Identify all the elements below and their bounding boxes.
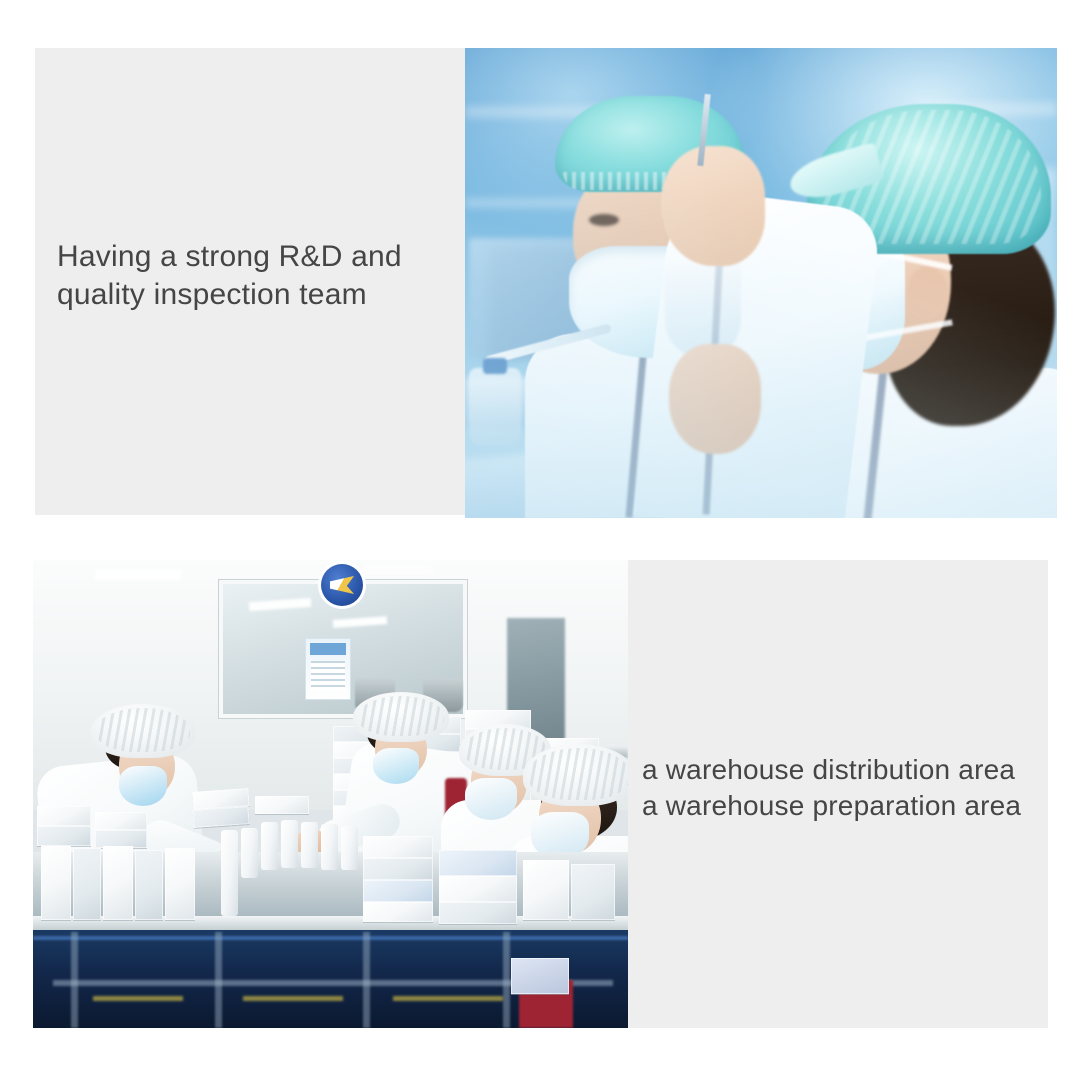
ceiling-light — [95, 570, 181, 580]
tube — [241, 828, 258, 878]
carton — [363, 858, 433, 880]
hand-upper — [661, 146, 765, 266]
carton — [37, 826, 91, 846]
carton-upright — [41, 846, 71, 920]
glass-flask — [665, 254, 741, 358]
tube — [321, 824, 338, 870]
section-rnd-quality: Having a strong R&D and quality inspecti… — [0, 0, 1080, 530]
carton — [255, 796, 309, 814]
hair-cap — [353, 692, 449, 742]
carton — [439, 850, 517, 876]
floor-marking — [93, 996, 183, 1001]
tube — [341, 826, 358, 870]
window-light-reflection — [249, 598, 311, 611]
caption-warehouse: a warehouse distribution area a warehous… — [642, 752, 1062, 825]
carton-upright — [523, 860, 569, 920]
carton-upright — [73, 848, 101, 920]
hair-cap — [91, 704, 195, 758]
carton — [439, 902, 517, 924]
carton — [511, 958, 569, 994]
carton — [363, 836, 433, 858]
page-root: Having a strong R&D and quality inspecti… — [0, 0, 1080, 1080]
hair-cap — [523, 744, 628, 806]
carton — [363, 902, 433, 922]
ceiling-light — [363, 566, 433, 575]
carton — [363, 880, 433, 902]
face-mask — [373, 748, 419, 784]
carton — [37, 806, 91, 826]
ear — [907, 266, 947, 320]
wall-sign-icon — [321, 564, 363, 606]
carton — [95, 812, 147, 830]
carton-upright — [103, 846, 133, 920]
tube — [281, 820, 298, 868]
tube — [301, 822, 318, 868]
carton-upright — [135, 850, 163, 920]
hand-lower — [669, 344, 761, 454]
carton-upright — [165, 848, 195, 920]
floor-marking — [393, 996, 503, 1001]
bottle-cap — [483, 358, 507, 374]
face-mask — [119, 766, 167, 806]
caption-rnd-quality: Having a strong R&D and quality inspecti… — [57, 238, 457, 314]
section-warehouse: a warehouse distribution area a warehous… — [0, 530, 1080, 1080]
tube — [261, 822, 278, 870]
carton-upright — [571, 864, 615, 920]
photo-warehouse-packing — [33, 560, 628, 1028]
tube — [221, 830, 238, 916]
carton — [439, 876, 517, 902]
carton — [192, 806, 249, 828]
window-light-reflection — [333, 616, 387, 628]
reagent-bottle — [469, 368, 521, 446]
floor-marking — [243, 996, 343, 1001]
photo-lab-inspection — [465, 48, 1057, 518]
